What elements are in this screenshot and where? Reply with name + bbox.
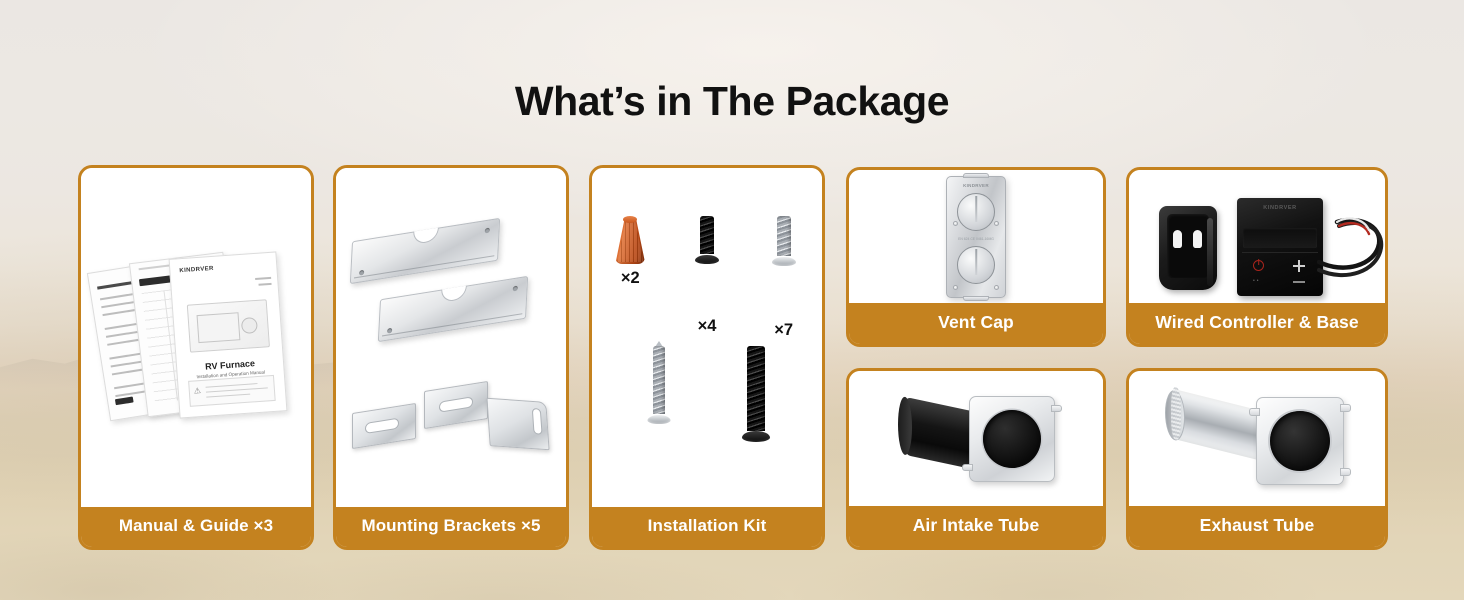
air-intake-tube-icon bbox=[849, 371, 1103, 506]
power-button-icon[interactable] bbox=[1253, 260, 1264, 271]
card-label-exhaust-tube: Exhaust Tube bbox=[1129, 506, 1385, 547]
package-card-manual[interactable]: KINDRVER RV Furnace Installation and Ope… bbox=[78, 165, 314, 550]
plus-button-icon[interactable] bbox=[1293, 260, 1305, 272]
controller-screen bbox=[1243, 228, 1317, 248]
package-card-exhaust-tube[interactable]: Exhaust Tube bbox=[1126, 368, 1388, 550]
controller-unit: KINDRVER •• bbox=[1237, 198, 1323, 296]
card-label-air-intake-tube: Air Intake Tube bbox=[849, 506, 1103, 547]
card-label-vent-cap: Vent Cap bbox=[849, 303, 1103, 344]
controller-indicator-dots: •• bbox=[1253, 278, 1261, 284]
wired-controller-icon: KINDRVER •• bbox=[1129, 170, 1385, 303]
manual-brand: KINDRVER bbox=[179, 265, 214, 273]
card-label-brackets: Mounting Brackets ×5 bbox=[336, 507, 566, 547]
installation-kit-icon: ×2 ×4 ×7 bbox=[592, 168, 822, 507]
page-title: What’s in The Package bbox=[0, 78, 1464, 125]
vent-cap-brand: KINDRVER bbox=[947, 183, 1005, 188]
controller-wall-base bbox=[1159, 206, 1217, 290]
minus-button-icon[interactable] bbox=[1293, 281, 1305, 283]
package-card-air-intake-tube[interactable]: Air Intake Tube bbox=[846, 368, 1106, 550]
package-card-brackets[interactable]: Mounting Brackets ×5 bbox=[333, 165, 569, 550]
card-label-manual: Manual & Guide ×3 bbox=[81, 507, 311, 547]
package-card-wired-controller[interactable]: KINDRVER •• Wired Controller & Base bbox=[1126, 167, 1388, 347]
package-card-installation-kit[interactable]: ×2 ×4 ×7 bbox=[589, 165, 825, 550]
controller-brand: KINDRVER bbox=[1237, 205, 1323, 211]
package-card-vent-cap[interactable]: KINDRVER EN 624 CE 0461-16MG Vent Cap bbox=[846, 167, 1106, 347]
manual-pages-icon: KINDRVER RV Furnace Installation and Ope… bbox=[81, 168, 311, 507]
card-label-installation-kit: Installation Kit bbox=[592, 507, 822, 547]
kit-part-silver-short-screw: ×7 bbox=[756, 216, 812, 340]
kit-qty-black-short-screw: ×4 bbox=[679, 317, 735, 336]
kit-qty-wire-nut: ×2 bbox=[602, 269, 658, 288]
kit-part-black-short-screw: ×4 bbox=[679, 216, 735, 340]
kit-part-black-long-screw: ×19 bbox=[728, 346, 784, 507]
kit-part-wire-nut: ×2 bbox=[602, 216, 658, 340]
kit-qty-silver-short-screw: ×7 bbox=[756, 321, 812, 340]
exhaust-tube-icon bbox=[1129, 371, 1385, 506]
vent-cap-spec: EN 624 CE 0461-16MG bbox=[947, 237, 1005, 242]
mounting-bracket-icon bbox=[336, 168, 566, 507]
kit-part-silver-long-screw: ×2 bbox=[631, 346, 687, 507]
card-label-wired-controller: Wired Controller & Base bbox=[1129, 303, 1385, 344]
controller-wire-harness bbox=[1317, 200, 1385, 296]
vent-cap-icon: KINDRVER EN 624 CE 0461-16MG bbox=[849, 170, 1103, 303]
